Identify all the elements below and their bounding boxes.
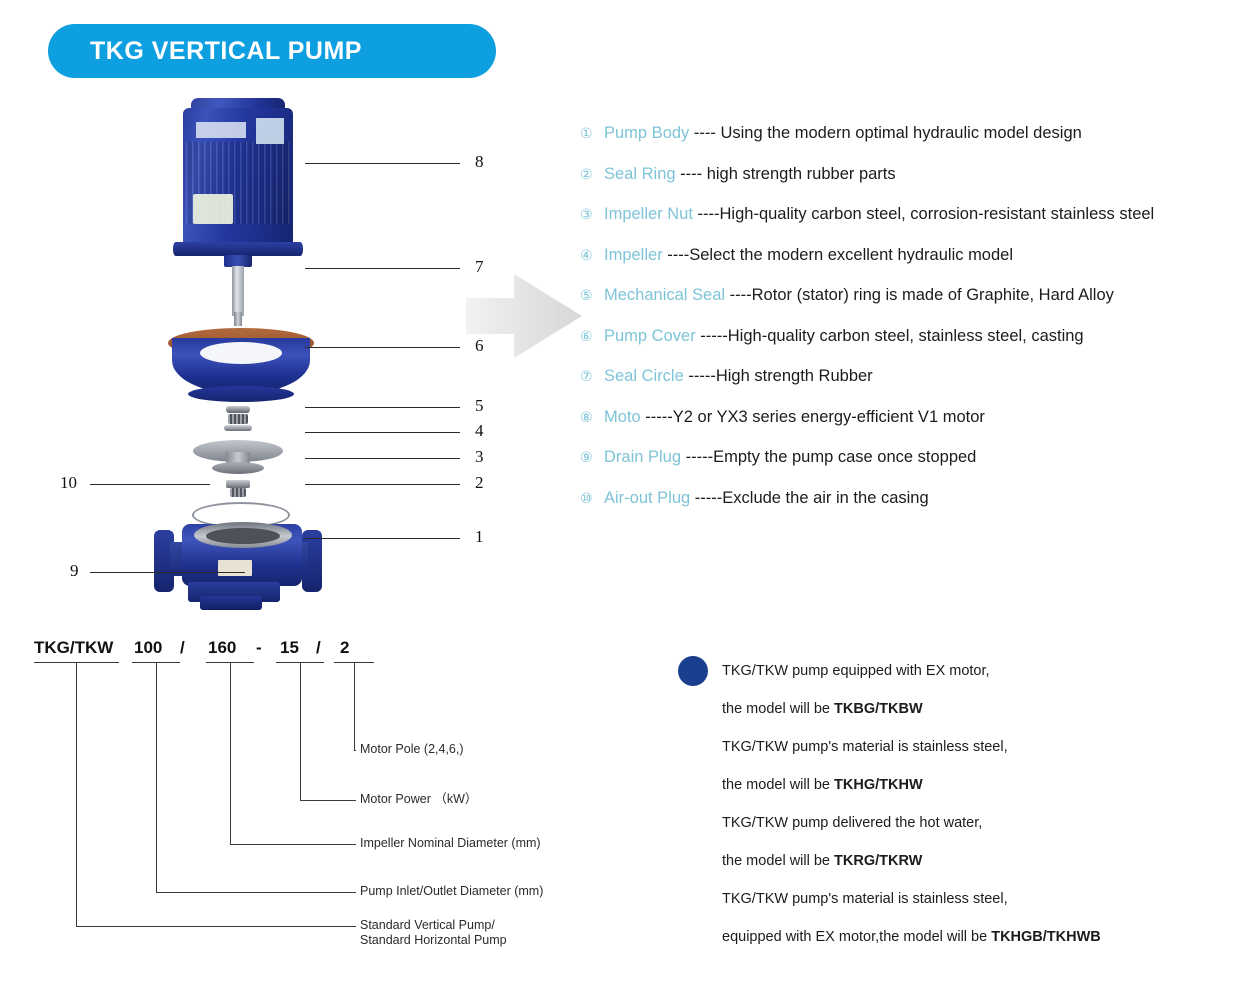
page-title-banner: TKG VERTICAL PUMP — [48, 24, 496, 78]
legend-part-description: -----High-quality carbon steel, stainles… — [696, 327, 1084, 346]
legend-number-icon-2: ② — [580, 167, 604, 183]
legend-part-description: -----High strength Rubber — [684, 367, 873, 386]
note-model-code: TKHG/TKHW — [834, 777, 923, 793]
model-nomenclature: TKG/TKW100/160-15/2Motor Pole (2,4,6,)Mo… — [22, 630, 622, 960]
legend-part-name: Pump Cover — [604, 327, 696, 346]
model-elbow-impeller-diameter — [230, 844, 356, 845]
legend-part-description: ----Rotor (stator) ring is made of Graph… — [725, 286, 1114, 305]
page-title: TKG VERTICAL PUMP — [90, 37, 362, 66]
model-code-label-1: Motor Pole (2,4,6,) — [360, 742, 464, 757]
callout-leader-7 — [305, 268, 460, 269]
legend-item-3: ③Impeller Nut ----High-quality carbon st… — [580, 205, 1230, 227]
model-elbow-motor-pole — [354, 750, 356, 751]
legend-item-10: ⑩Air-out Plug -----Exclude the air in th… — [580, 489, 1230, 511]
note-line-5: TKG/TKW pump delivered the hot water, — [722, 804, 1228, 842]
model-code-segment-7: / — [316, 638, 321, 658]
note-model-code: TKBG/TKBW — [834, 701, 923, 717]
note-model-code: TKRG/TKRW — [834, 853, 922, 869]
legend-part-name: Impeller — [604, 246, 663, 265]
legend-number-icon-1: ① — [580, 126, 604, 142]
callout-leader-2 — [305, 484, 460, 485]
model-code-segment-1: TKG/TKW — [34, 638, 113, 658]
impeller-nut — [230, 488, 246, 497]
callout-number-2: 2 — [475, 473, 484, 493]
model-code-segment-2: 100 — [134, 638, 162, 658]
note-line-2: the model will be TKBG/TKBW — [722, 690, 1228, 728]
legend-number-icon-9: ⑨ — [580, 450, 604, 466]
legend-part-name: Drain Plug — [604, 448, 681, 467]
model-code-segment-4: 160 — [208, 638, 236, 658]
model-elbow-motor-power — [300, 800, 356, 801]
legend-part-description: ----Select the modern excellent hydrauli… — [663, 246, 1013, 265]
model-code-label-4: Pump Inlet/Outlet Diameter (mm) — [360, 884, 543, 899]
model-drop-motor-pole — [354, 662, 355, 750]
model-code-segment-8: 2 — [340, 638, 349, 658]
note-line-8: equipped with EX motor,the model will be… — [722, 918, 1228, 956]
motor-terminal-box — [193, 194, 233, 224]
pump-body-foot-lower — [200, 596, 262, 610]
model-drop-motor-power — [300, 662, 301, 800]
model-elbow-standard-pump — [76, 926, 356, 927]
motor-nameplate-side — [256, 118, 284, 144]
legend-part-description: -----Empty the pump case once stopped — [681, 448, 976, 467]
legend-number-icon-8: ⑧ — [580, 410, 604, 426]
legend-item-7: ⑦Seal Circle -----High strength Rubber — [580, 367, 1230, 389]
legend-part-name: Seal Circle — [604, 367, 684, 386]
legend-part-name: Moto — [604, 408, 641, 427]
model-code-segment-5: - — [256, 638, 262, 658]
callout-number-10: 10 — [60, 473, 77, 493]
callout-number-9: 9 — [70, 561, 79, 581]
bullet-dot-icon — [678, 656, 708, 686]
legend-number-icon-5: ⑤ — [580, 288, 604, 304]
impeller-base — [212, 462, 264, 474]
callout-number-8: 8 — [475, 152, 484, 172]
model-code-label-5: Standard Vertical Pump/ — [360, 918, 495, 933]
model-drop-impeller-diameter — [230, 662, 231, 844]
legend-part-name: Pump Body — [604, 124, 689, 143]
legend-number-icon-6: ⑥ — [580, 329, 604, 345]
note-line-6: the model will be TKRG/TKRW — [722, 842, 1228, 880]
pump-body-bore — [206, 528, 280, 544]
note-model-code: TKHGB/TKHWB — [991, 929, 1101, 945]
model-drop-inlet-outlet-diameter — [156, 662, 157, 892]
model-variant-notes: TKG/TKW pump equipped with EX motor,the … — [678, 652, 1228, 956]
callout-number-4: 4 — [475, 421, 484, 441]
legend-part-description: ---- high strength rubber parts — [676, 165, 896, 184]
legend-part-description: -----Exclude the air in the casing — [690, 489, 928, 508]
legend-number-icon-3: ③ — [580, 207, 604, 223]
legend-part-name: Air-out Plug — [604, 489, 690, 508]
legend-item-2: ②Seal Ring ---- high strength rubber par… — [580, 165, 1230, 187]
legend-item-9: ⑨Drain Plug -----Empty the pump case onc… — [580, 448, 1230, 470]
model-drop-standard-pump — [76, 662, 77, 926]
legend-item-8: ⑧Moto -----Y2 or YX3 series energy-effic… — [580, 408, 1230, 430]
legend-item-4: ④Impeller ----Select the modern excellen… — [580, 246, 1230, 268]
note-line-3: TKG/TKW pump's material is stainless ste… — [722, 728, 1228, 766]
mechanical-seal-core — [228, 414, 248, 424]
legend-part-name: Impeller Nut — [604, 205, 693, 224]
legend-part-name: Seal Ring — [604, 165, 676, 184]
callout-number-3: 3 — [475, 447, 484, 467]
callout-leader-1 — [305, 538, 460, 539]
callout-leader-9 — [90, 572, 245, 573]
legend-part-name: Mechanical Seal — [604, 286, 725, 305]
pump-body-label — [218, 560, 252, 576]
callout-leader-4 — [305, 432, 460, 433]
legend-part-description: -----Y2 or YX3 series energy-efficient V… — [641, 408, 985, 427]
callout-number-1: 1 — [475, 527, 484, 547]
impeller-nut-washer — [226, 480, 250, 488]
model-code-segment-3: / — [180, 638, 185, 658]
pump-cover-base — [188, 386, 294, 402]
model-code-label-3: Impeller Nominal Diameter (mm) — [360, 836, 541, 851]
callout-number-5: 5 — [475, 396, 484, 416]
model-elbow-inlet-outlet-diameter — [156, 892, 356, 893]
legend-number-icon-10: ⑩ — [580, 491, 604, 507]
motor-mounting-flange — [173, 242, 303, 256]
shaft-tip — [234, 312, 242, 326]
model-code-label-6: Standard Horizontal Pump — [360, 933, 507, 948]
legend-part-description: ---- Using the modern optimal hydraulic … — [689, 124, 1082, 143]
callout-leader-5 — [305, 407, 460, 408]
note-line-1: TKG/TKW pump equipped with EX motor, — [722, 652, 1228, 690]
mechanical-seal-upper — [226, 406, 250, 413]
legend-item-6: ⑥Pump Cover -----High-quality carbon ste… — [580, 327, 1230, 349]
legend-number-icon-4: ④ — [580, 248, 604, 264]
motor-shaft — [232, 266, 244, 316]
note-line-7: TKG/TKW pump's material is stainless ste… — [722, 880, 1228, 918]
pump-cover-aperture — [200, 342, 282, 364]
legend-part-description: ----High-quality carbon steel, corrosion… — [693, 205, 1154, 224]
mechanical-seal-lower — [224, 425, 252, 431]
flow-arrow-icon — [466, 268, 586, 364]
motor-nameplate-upper — [196, 122, 246, 138]
parts-legend: ①Pump Body ---- Using the modern optimal… — [580, 124, 1230, 529]
model-code-segment-6: 15 — [280, 638, 299, 658]
model-code-label-2: Motor Power （kW） — [360, 792, 477, 807]
legend-number-icon-7: ⑦ — [580, 369, 604, 385]
callout-leader-3 — [305, 458, 460, 459]
exploded-pump-diagram — [60, 90, 480, 610]
legend-item-5: ⑤Mechanical Seal ----Rotor (stator) ring… — [580, 286, 1230, 308]
legend-item-1: ①Pump Body ---- Using the modern optimal… — [580, 124, 1230, 146]
callout-leader-6 — [305, 347, 460, 348]
note-line-4: the model will be TKHG/TKHW — [722, 766, 1228, 804]
callout-leader-8 — [305, 163, 460, 164]
callout-leader-10 — [90, 484, 210, 485]
